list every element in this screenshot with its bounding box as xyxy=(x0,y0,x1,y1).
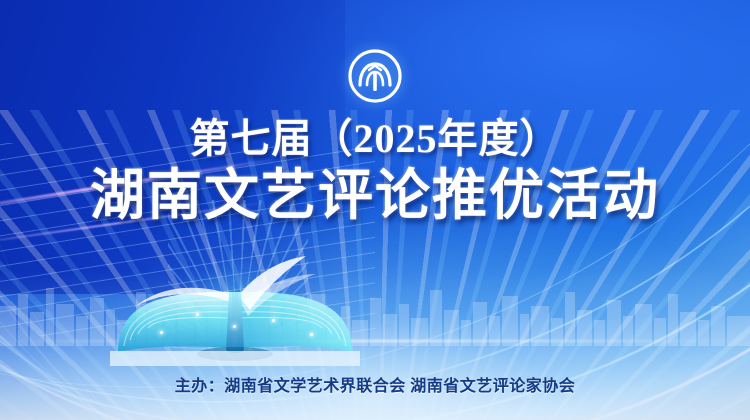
subtitle-edition-year: 第七届（2025年度） xyxy=(0,118,750,160)
event-poster-banner: 第七届（2025年度） 湖南文艺评论推优活动 主办：湖南省文学艺术界联合会 湖南… xyxy=(0,0,750,420)
page-title: 湖南文艺评论推优活动 xyxy=(0,166,750,225)
sparkle xyxy=(310,333,313,336)
sparkle xyxy=(196,313,199,316)
title-block: 第七届（2025年度） 湖南文艺评论推优活动 xyxy=(0,118,750,225)
organization-logo xyxy=(346,47,404,105)
open-book-illustration xyxy=(110,248,360,366)
sparkle xyxy=(233,325,236,328)
sparkle xyxy=(272,319,275,322)
sparkle xyxy=(160,331,163,334)
organizer-credit: 主办：湖南省文学艺术界联合会 湖南省文艺评论家协会 xyxy=(0,372,750,396)
